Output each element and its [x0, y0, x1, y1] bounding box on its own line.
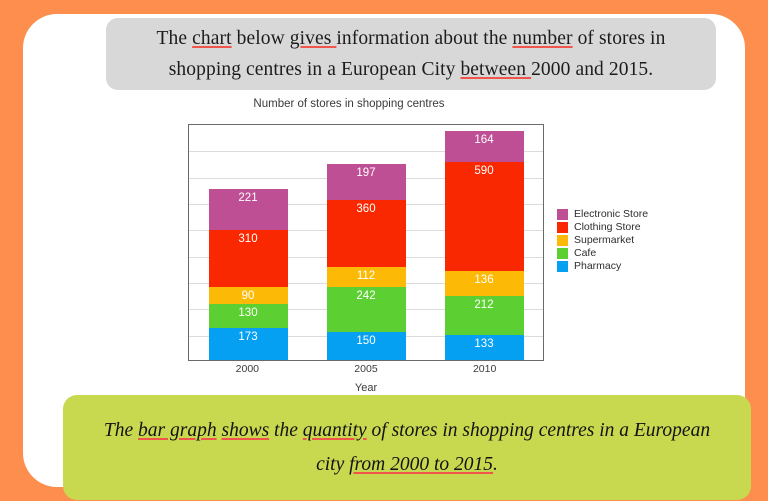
text-run: The [104, 420, 138, 441]
bar-group: 2213109013017319736011224215016459013621… [189, 125, 543, 360]
bar-segment[interactable]: 150 [327, 332, 406, 360]
answer-text: The bar graph shows the quantity of stor… [89, 414, 725, 482]
bar-value-label: 197 [356, 166, 375, 180]
bar-value-label: 590 [474, 164, 493, 178]
text-run: . [493, 454, 498, 475]
bar-value-label: 164 [474, 133, 493, 147]
bar-value-label: 112 [357, 269, 375, 283]
prompt-text: The chart below gives information about … [124, 23, 698, 85]
bar-value-label: 133 [474, 337, 493, 351]
x-axis-tick-label: 2010 [445, 363, 524, 375]
prompt-box: The chart below gives information about … [106, 18, 716, 90]
answer-box: The bar graph shows the quantity of stor… [63, 395, 751, 500]
bar-segment[interactable]: 221 [209, 189, 288, 230]
stacked-bar[interactable]: 164590136212133 [445, 131, 524, 360]
legend-label: Cafe [574, 247, 596, 260]
bar-segment[interactable]: 212 [445, 296, 524, 335]
text-run: 2000 and 2015. [531, 59, 653, 80]
legend-item[interactable]: Pharmacy [557, 260, 648, 273]
white-card: The chart below gives information about … [23, 14, 745, 487]
bar-segment[interactable]: 112 [327, 267, 406, 288]
bar-segment[interactable]: 90 [209, 287, 288, 304]
text-run: the [269, 420, 303, 441]
bar-segment[interactable]: 164 [445, 131, 524, 161]
bar-value-label: 221 [238, 191, 257, 205]
legend-swatch-icon [557, 235, 568, 246]
bar-segment[interactable]: 173 [209, 328, 288, 360]
bar-segment[interactable]: 242 [327, 287, 406, 332]
bar-value-label: 360 [356, 202, 375, 216]
legend-item[interactable]: Electronic Store [557, 208, 648, 221]
bar-value-label: 150 [356, 334, 375, 348]
underlined-phrase: number [512, 28, 572, 49]
legend-label: Clothing Store [574, 221, 641, 234]
bar-value-label: 90 [242, 289, 255, 303]
legend-item[interactable]: Cafe [557, 247, 648, 260]
chart-legend: Electronic StoreClothing StoreSupermarke… [557, 208, 648, 273]
underlined-phrase: from 2000 to 2015 [349, 454, 493, 475]
chart-title: Number of stores in shopping centres [143, 98, 555, 110]
bar-segment[interactable]: 130 [209, 304, 288, 328]
x-axis-tick-label: 2000 [208, 363, 287, 375]
legend-item[interactable]: Supermarket [557, 234, 648, 247]
bar-value-label: 212 [474, 298, 493, 312]
bar-value-label: 242 [356, 289, 375, 303]
x-axis-ticks: 200020052010 [188, 363, 544, 375]
underlined-phrase: chart [192, 28, 231, 49]
underlined-phrase: bar graph [138, 420, 217, 441]
bar-value-label: 310 [238, 232, 257, 246]
x-axis-tick-label: 2005 [326, 363, 405, 375]
legend-swatch-icon [557, 222, 568, 233]
bar-value-label: 136 [474, 273, 493, 287]
legend-swatch-icon [557, 261, 568, 272]
underlined-phrase: gives [290, 28, 337, 49]
bar-value-label: 130 [238, 306, 257, 320]
bar-segment[interactable]: 360 [327, 200, 406, 267]
screenshot-root: The chart below gives information about … [0, 0, 768, 501]
chart-container: Number of stores in shopping centres Num… [143, 94, 713, 394]
bar-segment[interactable]: 590 [445, 162, 524, 271]
underlined-phrase: shows [221, 420, 269, 441]
legend-label: Pharmacy [574, 260, 621, 273]
x-axis-label: Year [188, 382, 544, 394]
text-run: information about the [336, 28, 512, 49]
stacked-bar[interactable]: 197360112242150 [327, 164, 406, 360]
bar-segment[interactable]: 136 [445, 271, 524, 296]
stacked-bar[interactable]: 22131090130173 [209, 189, 288, 360]
legend-label: Electronic Store [574, 208, 648, 221]
bar-segment[interactable]: 310 [209, 230, 288, 287]
legend-swatch-icon [557, 209, 568, 220]
text-run: below [232, 28, 290, 49]
legend-label: Supermarket [574, 234, 634, 247]
plot-area: 2213109013017319736011224215016459013621… [188, 124, 544, 361]
bar-value-label: 173 [238, 330, 257, 344]
bar-segment[interactable]: 133 [445, 335, 524, 360]
bar-segment[interactable]: 197 [327, 164, 406, 200]
legend-item[interactable]: Clothing Store [557, 221, 648, 234]
underlined-phrase: quantity [303, 420, 367, 441]
legend-swatch-icon [557, 248, 568, 259]
underlined-phrase: between [460, 59, 531, 80]
text-run: The [157, 28, 193, 49]
